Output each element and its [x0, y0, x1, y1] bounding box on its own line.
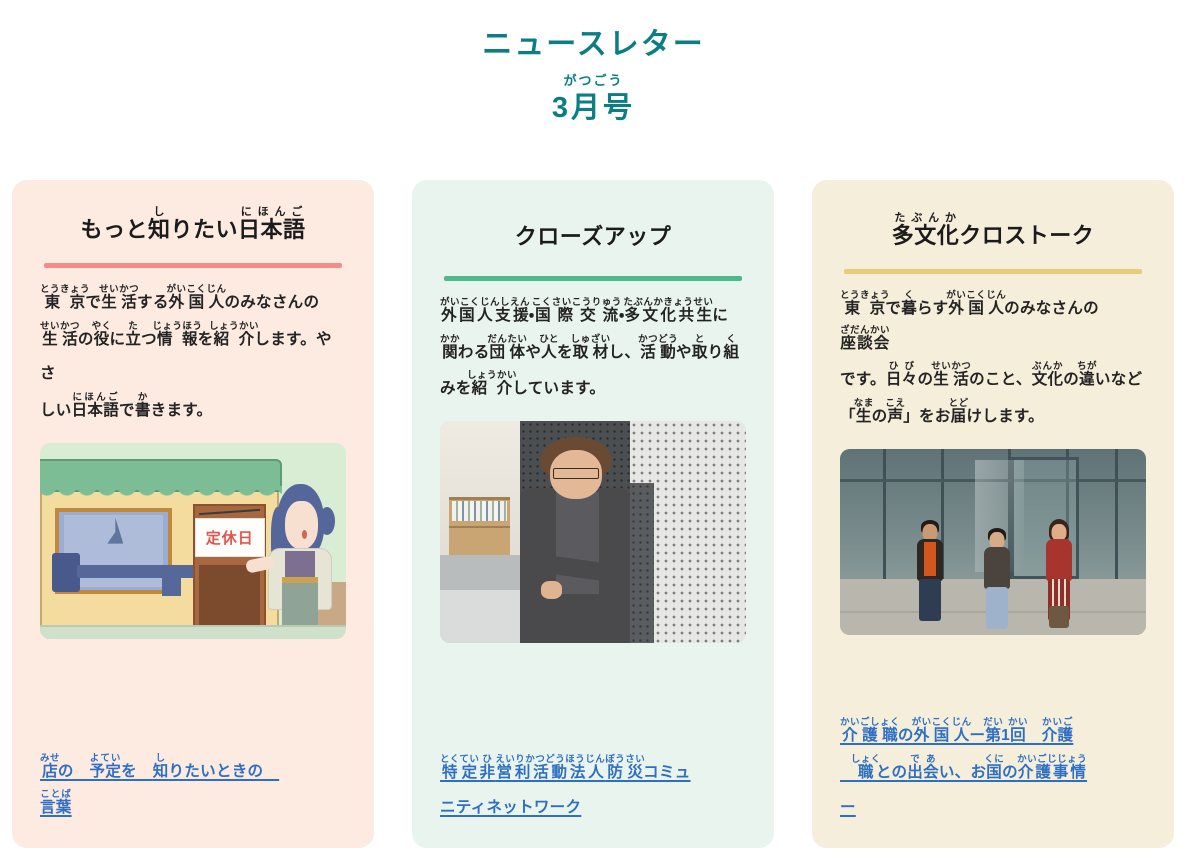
text-line: ニティネットワーク [440, 790, 746, 826]
text-line: 生活せいかつの役やくに立たつ情報じょうほうを紹介しょうかいします。やさ [40, 321, 346, 393]
text-line: 特定とくてい非ひ営利活動法人えいりかつどうほうじん防災ぼうさいコミュ [440, 754, 746, 791]
card-motto-shiritai-nihongo: もっと知しりたい日本語にほんご 東京とうきょうで生活せいかつする外国人がいこくじ… [12, 180, 374, 848]
card-close-up: クローズアップ 外国人支援がいこくじんしえん・国際交流こくさいこうりゅう・多文化… [412, 180, 774, 848]
text-line: 店みせの 予定よていを 知しりたいときの [40, 753, 346, 790]
card-description: 東京とうきょうで暮くらす外国人がいこくじんのみなさんの座談会ざだんかいです。日々… [836, 290, 1150, 436]
roundtable-group-photo [840, 449, 1146, 635]
text-line: しい日本語にほんごで書かきます。 [40, 392, 346, 429]
text-line: 言葉ことば [40, 789, 346, 826]
shop-closed-illustration: 定休日 [40, 443, 346, 639]
article-link[interactable]: 介護職かいごしょくの外国人がいこくじんー第だい1回かい 介護かいご 職しょくとの… [840, 717, 1146, 826]
text-line: 職しょくとの出会であい、お国くにの介護事情かいごじじょう [840, 754, 1146, 791]
card-divider [44, 263, 342, 268]
text-line: 「生なまの声こえ」をお届とどけします。 [840, 398, 1146, 435]
article-link[interactable]: 店みせの 予定よていを 知しりたいときの 言葉ことば [40, 753, 346, 826]
issue-label: 3月号 [552, 90, 635, 126]
card-divider [844, 269, 1142, 274]
card-grid: もっと知しりたい日本語にほんご 東京とうきょうで生活せいかつする外国人がいこくじ… [12, 180, 1175, 848]
card-divider [444, 276, 742, 281]
article-link[interactable]: 特定とくてい非ひ営利活動法人えいりかつどうほうじん防災ぼうさいコミュニティネット… [440, 754, 746, 826]
card-link-list: 店みせの 予定よていを 知しりたいときの 言葉ことば [36, 731, 350, 826]
interviewee-photo [440, 421, 746, 643]
issue-block: がつごう 3月号 [552, 74, 635, 127]
photo-canvas [840, 449, 1146, 635]
card-tabunka-cross-talk: 多文化たぶんかクロストーク 東京とうきょうで暮くらす外国人がいこくじんのみなさん… [812, 180, 1174, 848]
photo-canvas [440, 421, 746, 643]
card-link-list: 介護職かいごしょくの外国人がいこくじんー第だい1回かい 介護かいご 職しょくとの… [836, 697, 1150, 826]
issue-ruby: がつごう [552, 74, 635, 88]
text-line: 関かかわる団体だんたいや人ひとを取材しゅざいし、活動かつどうや取とり組く [440, 334, 746, 371]
card-description: 東京とうきょうで生活せいかつする外国人がいこくじんのみなさんの生活せいかつの役や… [36, 284, 350, 430]
sign-text: 定休日 [206, 527, 254, 548]
text-line: です。日々ひびの生活せいかつのこと、文化ぶんかの違ちがいなど [840, 361, 1146, 398]
teikyuubi-sign: 定休日 [195, 518, 265, 557]
text-line: みを紹介しょうかいしています。 [440, 370, 746, 407]
illustration-canvas: 定休日 [40, 443, 346, 639]
woman-figure [263, 484, 336, 625]
page-title: ニュースレター [0, 26, 1187, 64]
text-line: ー [840, 790, 1146, 826]
card-description: 外国人支援がいこくじんしえん・国際交流こくさいこうりゅう・多文化共生たぶんかきょ… [436, 297, 750, 408]
card-title: 多文化たぶんかクロストーク [836, 212, 1150, 251]
card-title: もっと知しりたい日本語にほんご [36, 206, 350, 245]
masthead: ニュースレター がつごう 3月号 [0, 0, 1187, 126]
text-line: 東京とうきょうで生活せいかつする外国人がいこくじんのみなさんの [40, 284, 346, 321]
card-link-list: 特定とくてい非ひ営利活動法人えいりかつどうほうじん防災ぼうさいコミュニティネット… [436, 730, 750, 826]
text-line: 介護職かいごしょくの外国人がいこくじんー第だい1回かい 介護かいご [840, 717, 1146, 754]
newsletter-page: ニュースレター がつごう 3月号 もっと知しりたい日本語にほんご 東京とうきょう… [0, 0, 1187, 860]
text-line: 東京とうきょうで暮くらす外国人がいこくじんのみなさんの座談会ざだんかい [840, 290, 1146, 362]
card-title: クローズアップ [436, 222, 750, 252]
text-line: 外国人支援がいこくじんしえん・国際交流こくさいこうりゅう・多文化共生たぶんかきょ… [440, 297, 746, 334]
